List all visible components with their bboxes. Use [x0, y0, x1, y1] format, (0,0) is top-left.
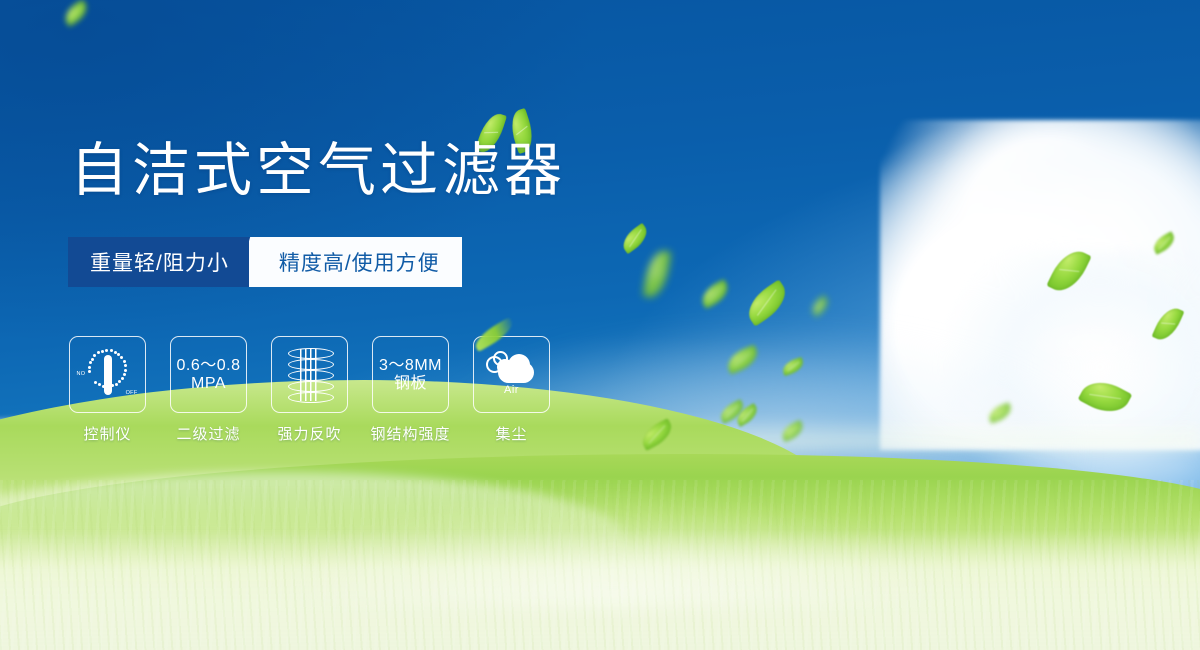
air-label: Air: [484, 384, 540, 396]
feature-label: 集尘: [495, 423, 527, 444]
subtitle-left-segment: 重量轻/阻力小: [68, 237, 249, 287]
feature-item-filtration[interactable]: 0.6〜0.8 MPA 二级过滤: [171, 336, 246, 444]
coil-ring: [288, 348, 334, 359]
subtitle-diagonal-divider: [249, 237, 275, 287]
product-banner: 自洁式空气过滤器 重量轻/阻力小 精度高/使用方便 NO OFF 控制仪: [0, 0, 1200, 650]
gauge-needle: [104, 355, 112, 395]
feature-item-dust[interactable]: Air 集尘: [474, 336, 549, 444]
feature-icon-box: Air: [473, 336, 550, 413]
gauge-icon: NO OFF: [77, 347, 139, 403]
coil-icon: [288, 347, 332, 403]
gauge-dot: [123, 373, 126, 376]
pressure-text-icon: 0.6〜0.8 MPA: [177, 357, 241, 393]
gauge-dot: [94, 381, 97, 384]
gauge-off-label: OFF: [126, 390, 138, 396]
feature-item-controller[interactable]: NO OFF 控制仪: [70, 336, 145, 444]
steel-text-icon: 3〜8MM 钢板: [379, 357, 442, 393]
gauge-dot: [115, 383, 118, 386]
gauge-dot: [97, 351, 100, 354]
gauge-dot: [120, 356, 123, 359]
gauge-dot: [88, 366, 91, 369]
feature-label: 控制仪: [83, 423, 131, 444]
cloud-body: [498, 362, 534, 383]
gauge-dot: [101, 350, 104, 353]
feature-label: 强力反吹: [277, 423, 341, 444]
steel-thickness: 3〜8MM: [379, 357, 442, 374]
feature-item-backblow[interactable]: 强力反吹: [272, 336, 347, 444]
feature-list: NO OFF 控制仪 0.6〜0.8 MPA 二级过滤: [70, 336, 549, 444]
coil-ring: [288, 370, 334, 381]
feature-item-steel[interactable]: 3〜8MM 钢板 钢结构强度: [373, 336, 448, 444]
pressure-unit: MPA: [177, 375, 241, 393]
gauge-dot: [124, 364, 127, 367]
gauge-dot: [98, 383, 101, 386]
subtitle-right-segment: 精度高/使用方便: [275, 237, 462, 287]
steel-material: 钢板: [379, 375, 442, 393]
coil-ring: [288, 381, 334, 392]
gauge-dot: [110, 349, 113, 352]
gauge-dot: [124, 369, 127, 372]
feature-icon-box: 0.6〜0.8 MPA: [170, 336, 247, 413]
gauge-dot: [91, 358, 94, 361]
feature-label: 二级过滤: [176, 423, 240, 444]
feature-icon-box: [271, 336, 348, 413]
feature-icon-box: 3〜8MM 钢板: [372, 336, 449, 413]
grass-path: [264, 488, 960, 608]
subtitle-bar: 重量轻/阻力小 精度高/使用方便: [68, 237, 462, 287]
gauge-dot: [118, 380, 121, 383]
feature-label: 钢结构强度: [371, 423, 451, 444]
gauge-dot: [114, 351, 117, 354]
gauge-dot: [121, 377, 124, 380]
coil-ring: [288, 359, 334, 370]
gauge-dot: [89, 361, 92, 364]
page-title: 自洁式空气过滤器: [70, 142, 566, 200]
gauge-dot: [123, 360, 126, 363]
pressure-value: 0.6〜0.8: [177, 357, 241, 374]
gauge-dot: [88, 370, 91, 373]
gauge-dot: [105, 349, 108, 352]
feature-icon-box: NO OFF: [69, 336, 146, 413]
coil-ring: [288, 392, 334, 403]
gauge-dot: [93, 354, 96, 357]
gauge-no-label: NO: [77, 371, 86, 377]
air-cloud-icon: Air: [484, 350, 540, 400]
